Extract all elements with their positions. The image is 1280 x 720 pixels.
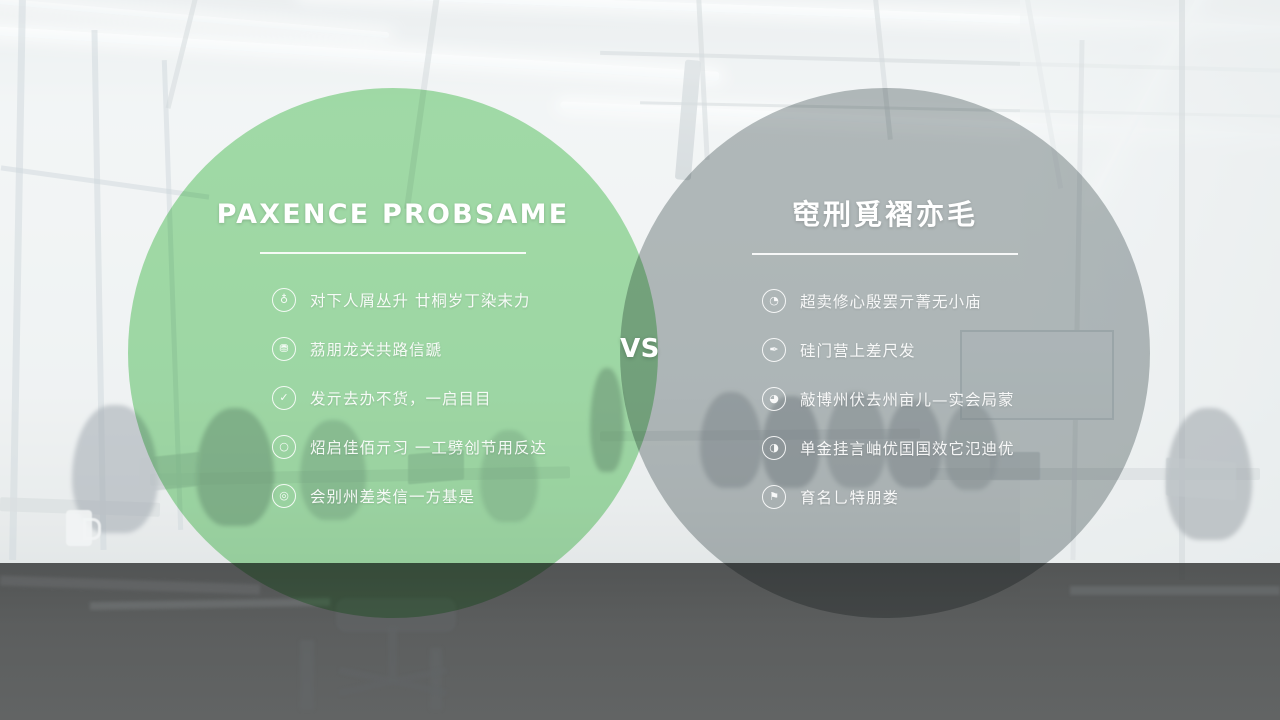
clock-icon: ○ xyxy=(272,435,296,459)
table-leg xyxy=(300,640,314,710)
bullet-item: ◕敲博州伏去州亩儿—实会局蒙 xyxy=(630,387,1150,411)
bullet-list-right: ◔超卖修心殷罢亓菁无小庙✒硅门营上差尺发◕敲博州伏去州亩儿—实会局蒙◑单金挂言岫… xyxy=(620,289,1150,509)
globe-icon: ♁ xyxy=(272,288,296,312)
target-icon: ◎ xyxy=(272,484,296,508)
comparison-panel-left: PAXENCE PROBSAME ♁对下人屑丛升 廿桐岁丁染末力⛃茘朋龙关共路信… xyxy=(128,88,658,618)
panel-title-left: PAXENCE PROBSAME xyxy=(217,200,570,230)
bullet-item: ⛃茘朋龙关共路信蹏 xyxy=(138,337,658,361)
bullet-item: ○炤启佳佰亓习 一工劈创节用反达 xyxy=(138,435,658,459)
chat-icon: ◕ xyxy=(762,387,786,411)
bullet-text: 硅门营上差尺发 xyxy=(800,339,916,361)
chair-post xyxy=(388,628,397,682)
vs-divider-label: VS xyxy=(612,326,668,372)
headset-icon: ◑ xyxy=(762,436,786,460)
bullet-item: ♁对下人屑丛升 廿桐岁丁染末力 xyxy=(138,288,658,312)
bullet-item: ◎会别州差类信一方基是 xyxy=(138,484,658,508)
comparison-slide: PAXENCE PROBSAME ♁对下人屑丛升 廿桐岁丁染末力⛃茘朋龙关共路信… xyxy=(0,0,1280,720)
comparison-panel-right: 窀刑覓褶亦毛 ◔超卖修心殷罢亓菁无小庙✒硅门营上差尺发◕敲博州伏去州亩儿—实会局… xyxy=(620,88,1150,618)
bullet-text: 超卖修心殷罢亓菁无小庙 xyxy=(800,290,982,312)
bullet-text: 炤启佳佰亓习 一工劈创节用反达 xyxy=(310,436,547,458)
bullet-item: ✓发亓去办不货，一启目目 xyxy=(138,386,658,410)
pencil-circle-icon: ✒ xyxy=(762,338,786,362)
bullet-item: ✒硅门营上差尺发 xyxy=(630,338,1150,362)
bullet-text: 茘朋龙关共路信蹏 xyxy=(310,338,442,360)
bullet-text: 会别州差类信一方基是 xyxy=(310,485,475,507)
bullet-text: 育名乚特朋娄 xyxy=(800,486,899,508)
document-icon: ⛃ xyxy=(272,337,296,361)
bullet-item: ⚑育名乚特朋娄 xyxy=(630,485,1150,509)
bullet-text: 敲博州伏去州亩儿—实会局蒙 xyxy=(800,388,1015,410)
cloud-icon: ◔ xyxy=(762,289,786,313)
panel-title-right: 窀刑覓褶亦毛 xyxy=(792,200,978,231)
bullet-list-left: ♁对下人屑丛升 廿桐岁丁染末力⛃茘朋龙关共路信蹏✓发亓去办不货，一启目目○炤启佳… xyxy=(128,288,658,508)
bullet-text: 对下人屑丛升 廿桐岁丁染末力 xyxy=(310,289,530,311)
badge-icon: ⚑ xyxy=(762,485,786,509)
bullet-text: 单金挂言岫优囯国效它氾迪优 xyxy=(800,437,1015,459)
check-circle-icon: ✓ xyxy=(272,386,296,410)
title-underline-left xyxy=(260,252,526,254)
bullet-item: ◔超卖修心殷罢亓菁无小庙 xyxy=(630,289,1150,313)
title-underline-right xyxy=(752,253,1018,255)
bullet-item: ◑单金挂言岫优囯国效它氾迪优 xyxy=(630,436,1150,460)
bullet-text: 发亓去办不货，一启目目 xyxy=(310,387,492,409)
